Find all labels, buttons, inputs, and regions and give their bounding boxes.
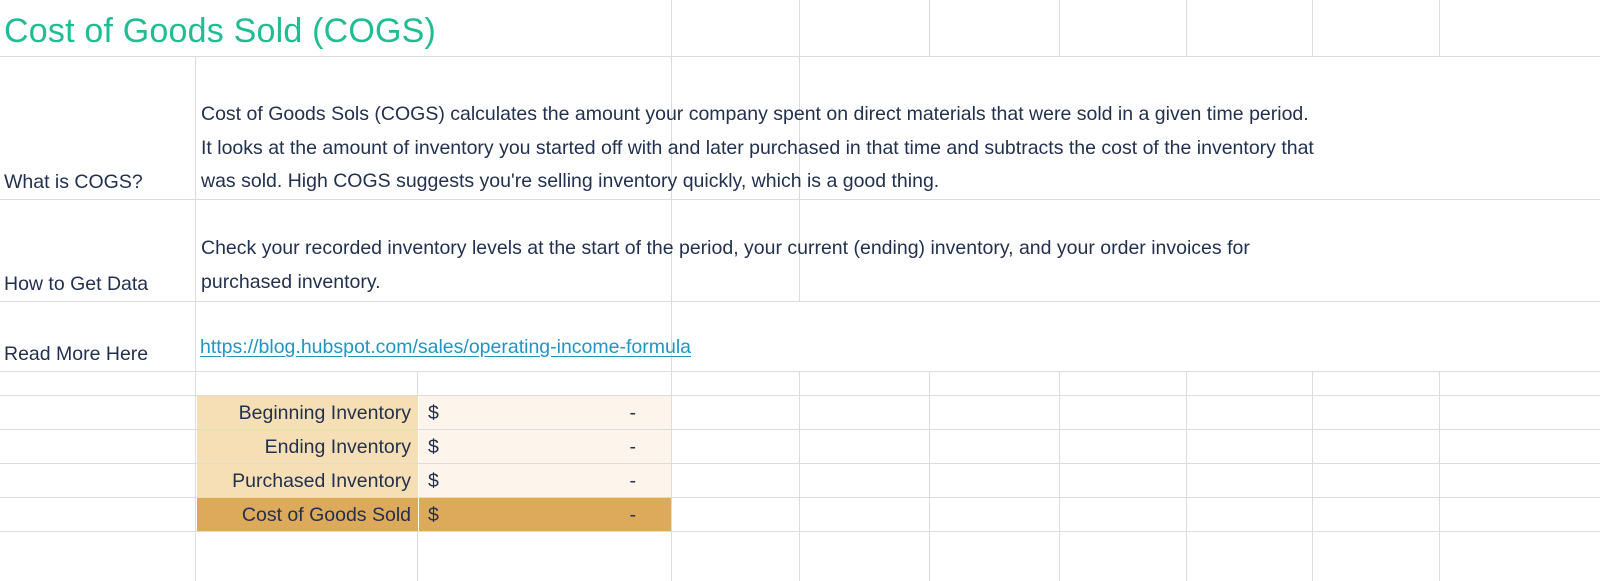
gridline-v <box>1186 371 1187 581</box>
currency-symbol-2: $ <box>428 470 439 493</box>
calc-row-label-0[interactable]: Beginning Inventory <box>197 396 418 430</box>
gridline-h <box>0 199 1600 200</box>
read-more-link[interactable]: https://blog.hubspot.com/sales/operating… <box>200 336 691 359</box>
amount-2: - <box>630 470 637 493</box>
page-title: Cost of Goods Sold (COGS) <box>4 6 436 56</box>
gridline-v <box>1312 371 1313 581</box>
calc-total-label[interactable]: Cost of Goods Sold <box>197 498 418 532</box>
currency-symbol-1: $ <box>428 436 439 459</box>
calc-row-value-0[interactable]: $ - <box>419 396 672 430</box>
how-to-get-data-body: Check your recorded inventory levels at … <box>201 232 1596 299</box>
gridline-h <box>0 429 1600 430</box>
gridline-h <box>0 56 1600 57</box>
gridline-h <box>0 463 1600 464</box>
spreadsheet-canvas: Beginning Inventory $ - Ending Inventory… <box>0 0 1600 581</box>
gridline-h <box>0 395 1600 396</box>
what-is-cogs-body: Cost of Goods Sols (COGS) calculates the… <box>201 98 1596 199</box>
gridline-v <box>195 56 196 581</box>
currency-symbol-total: $ <box>428 504 439 527</box>
gridline-h <box>0 301 1600 302</box>
calc-row-value-1[interactable]: $ - <box>419 430 672 464</box>
gridline-h <box>0 371 1600 372</box>
gridline-v <box>929 0 930 57</box>
gridline-v <box>1059 0 1060 57</box>
amount-0: - <box>630 402 637 425</box>
currency-symbol-0: $ <box>428 402 439 425</box>
calc-row-label-2[interactable]: Purchased Inventory <box>197 464 418 498</box>
gridline-h <box>0 531 1600 532</box>
gridline-v <box>1059 371 1060 581</box>
gridline-h <box>0 497 1600 498</box>
amount-total: - <box>630 504 637 527</box>
gridline-v <box>417 531 418 581</box>
calc-row-label-1[interactable]: Ending Inventory <box>197 430 418 464</box>
gridline-v <box>1312 0 1313 57</box>
gridline-v <box>1439 0 1440 57</box>
amount-1: - <box>630 436 637 459</box>
row-label-read-more-here[interactable]: Read More Here <box>4 302 192 371</box>
gridline-v <box>1439 371 1440 581</box>
gridline-v <box>417 371 418 395</box>
calc-row-value-2[interactable]: $ - <box>419 464 672 498</box>
gridline-v <box>929 371 930 581</box>
gridline-v <box>799 371 800 581</box>
row-label-what-is-cogs[interactable]: What is COGS? <box>4 57 192 199</box>
row-label-how-to-get-data[interactable]: How to Get Data <box>4 200 192 301</box>
gridline-v <box>1186 0 1187 57</box>
calc-total-value[interactable]: $ - <box>419 498 672 532</box>
